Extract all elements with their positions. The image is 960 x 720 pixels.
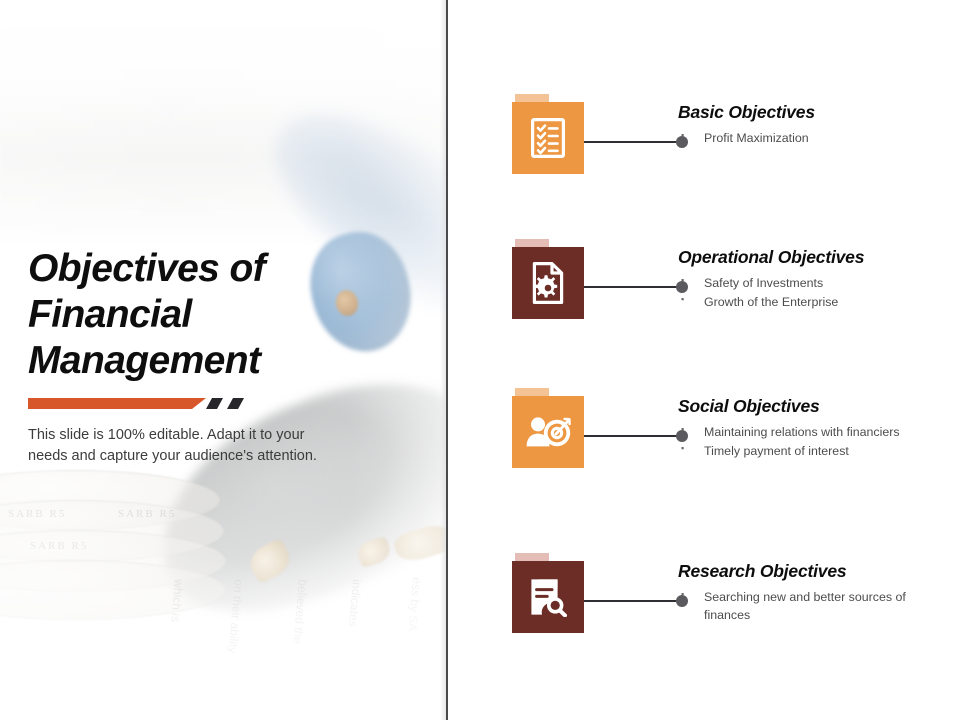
- icon-tile-wrap: [512, 239, 584, 323]
- bullet: Searching new and better sources of fina…: [678, 589, 946, 624]
- list-item-text: Operational Objectives Safety of Investm…: [678, 247, 946, 312]
- page-title: Objectives of Financial Management: [28, 246, 388, 384]
- bullet: Profit Maximization: [678, 130, 946, 148]
- person-target-icon: [512, 396, 584, 468]
- list-item-bullets: Profit Maximization: [678, 130, 946, 148]
- document-search-icon: [512, 561, 584, 633]
- document-gear-icon: [512, 247, 584, 319]
- list-item[interactable]: Basic Objectives Profit Maximization: [447, 94, 960, 204]
- connector-line: [584, 435, 680, 437]
- divider-slash: [227, 398, 244, 409]
- page-subtitle: This slide is 100% editable. Adapt it to…: [28, 425, 340, 467]
- list-item-text: Social Objectives Maintaining relations …: [678, 396, 946, 461]
- list-item-text: Basic Objectives Profit Maximization: [678, 102, 946, 149]
- connector-line: [584, 141, 680, 143]
- list-item-bullets: Maintaining relations with financiers Ti…: [678, 424, 946, 460]
- slide-canvas: 6 SARB R5 SARB R5 SARB R5 which is on th…: [0, 0, 960, 720]
- list-item[interactable]: Operational Objectives Safety of Investm…: [447, 239, 960, 349]
- connector-line: [584, 600, 680, 602]
- objectives-list: Basic Objectives Profit Maximization: [447, 0, 960, 720]
- list-item-text: Research Objectives Searching new and be…: [678, 561, 946, 625]
- list-item-bullets: Safety of Investments Growth of the Ente…: [678, 275, 946, 311]
- bullet: Timely payment of interest: [678, 443, 946, 461]
- list-item-title: Social Objectives: [678, 396, 946, 417]
- icon-tile-wrap: [512, 553, 584, 637]
- bullet: Maintaining relations with financiers: [678, 424, 946, 442]
- list-item-title: Research Objectives: [678, 561, 946, 582]
- title-block: Objectives of Financial Management This …: [28, 246, 388, 467]
- divider-bar: [28, 398, 206, 409]
- checklist-icon: [512, 102, 584, 174]
- list-item[interactable]: Research Objectives Searching new and be…: [447, 553, 960, 663]
- list-item-bullets: Searching new and better sources of fina…: [678, 589, 946, 624]
- list-item-title: Basic Objectives: [678, 102, 946, 123]
- bullet: Growth of the Enterprise: [678, 294, 946, 312]
- list-item-title: Operational Objectives: [678, 247, 946, 268]
- bullet: Safety of Investments: [678, 275, 946, 293]
- title-divider: [28, 398, 240, 409]
- connector-line: [584, 286, 680, 288]
- icon-tile-wrap: [512, 388, 584, 472]
- list-item[interactable]: Social Objectives Maintaining relations …: [447, 388, 960, 498]
- divider-slash: [206, 398, 223, 409]
- icon-tile-wrap: [512, 94, 584, 178]
